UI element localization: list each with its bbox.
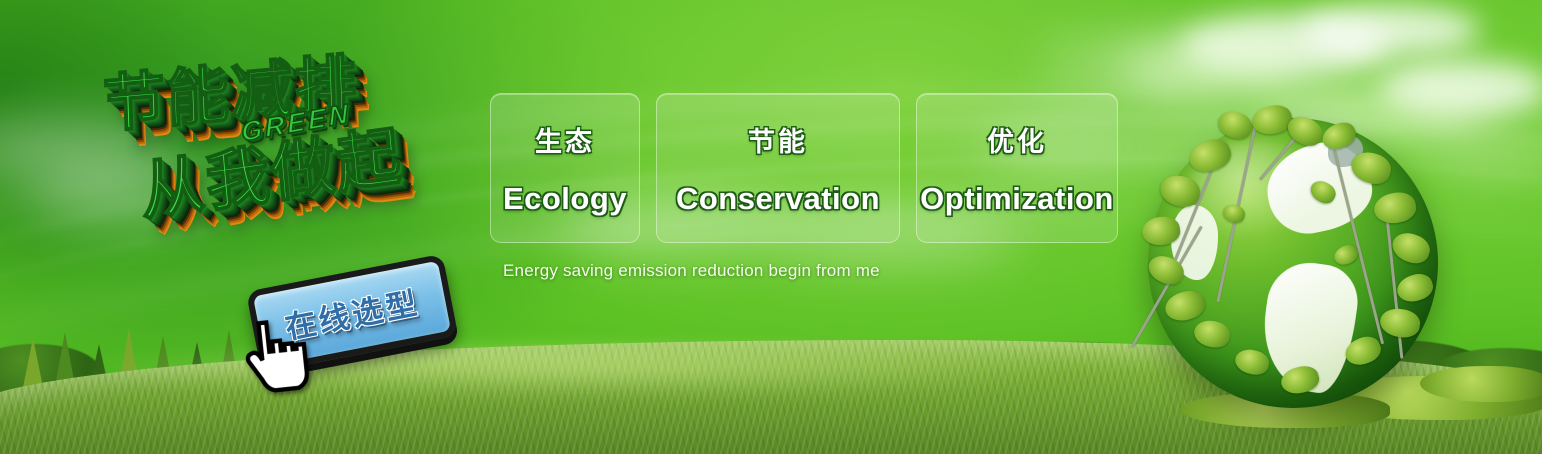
feature-card-conservation[interactable]: 节能 Conservation <box>656 93 900 243</box>
pointing-hand-cursor <box>234 314 314 403</box>
banner-tagline: Energy saving emission reduction begin f… <box>503 261 880 281</box>
feature-card-cn-label: 生态 <box>535 120 595 159</box>
feature-card-cn-label: 节能 <box>748 120 808 159</box>
hero-3d-title: 节能减排 GREEN 从我做起 <box>86 24 497 275</box>
feature-card-en-label: Ecology <box>503 181 627 217</box>
grass-highlight <box>65 346 1091 398</box>
feature-card-optimization[interactable]: 优化 Optimization <box>916 93 1118 243</box>
feature-card-en-label: Conservation <box>676 181 880 217</box>
eco-banner: 节能减排 GREEN 从我做起 <box>0 0 1542 454</box>
feature-card-en-label: Optimization <box>920 181 1114 217</box>
feature-card-list: 生态 Ecology 节能 Conservation 优化 Optimizati… <box>490 93 1118 243</box>
leafy-green-globe <box>1148 118 1438 408</box>
feature-card-ecology[interactable]: 生态 Ecology <box>490 93 640 243</box>
feature-card-cn-label: 优化 <box>987 120 1047 159</box>
